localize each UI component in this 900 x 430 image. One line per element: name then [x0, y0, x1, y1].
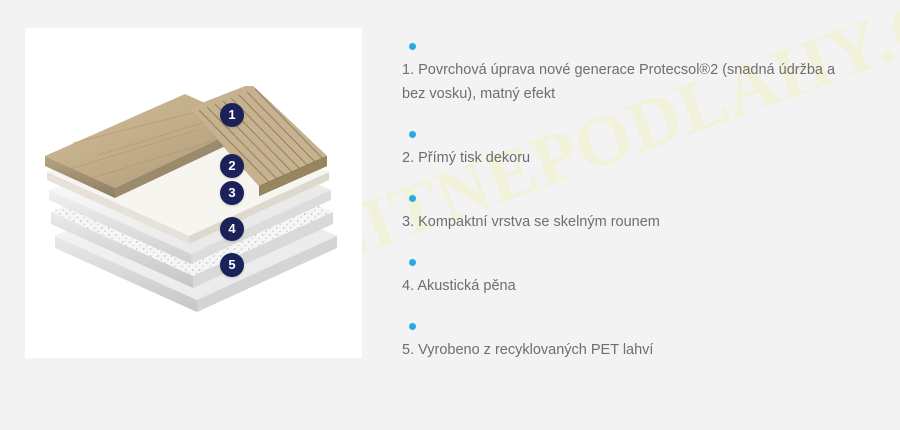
feature-text-5: 5. Vyrobeno z recyklovaných PET lahví: [402, 338, 857, 362]
product-image-panel: 1 2 3 4 5: [25, 28, 362, 358]
feature-item-4: 4. Akustická pěna: [402, 256, 872, 298]
bullet-dot-icon: [409, 43, 416, 50]
feature-text-1: 1. Povrchová úprava nové generace Protec…: [402, 58, 857, 106]
layer-badge-2[interactable]: 2: [220, 154, 244, 178]
feature-bullet-row-5: [402, 320, 872, 334]
product-layer-detail-page: KVALITNEPODLAHY.CZ: [0, 0, 900, 430]
feature-text-3: 3. Kompaktní vrstva se skelným rounem: [402, 210, 857, 234]
feature-item-3: 3. Kompaktní vrstva se skelným rounem: [402, 192, 872, 234]
layer-badge-4[interactable]: 4: [220, 217, 244, 241]
feature-list: 1. Povrchová úprava nové generace Protec…: [402, 40, 872, 362]
feature-bullet-row-2: [402, 128, 872, 142]
floor-cross-section-illustration: 1 2 3 4 5: [25, 28, 362, 358]
feature-text-2: 2. Přímý tisk dekoru: [402, 146, 857, 170]
feature-bullet-row-4: [402, 256, 872, 270]
feature-item-5: 5. Vyrobeno z recyklovaných PET lahví: [402, 320, 872, 362]
bullet-dot-icon: [409, 323, 416, 330]
bullet-dot-icon: [409, 131, 416, 138]
layer-badge-5[interactable]: 5: [220, 253, 244, 277]
bullet-dot-icon: [409, 195, 416, 202]
feature-item-1: 1. Povrchová úprava nové generace Protec…: [402, 40, 872, 106]
floor-layers-diagram: [37, 86, 347, 316]
feature-bullet-row-1: [402, 40, 872, 54]
feature-item-2: 2. Přímý tisk dekoru: [402, 128, 872, 170]
feature-text-4: 4. Akustická pěna: [402, 274, 857, 298]
layer-badge-1[interactable]: 1: [220, 103, 244, 127]
feature-bullet-row-3: [402, 192, 872, 206]
bullet-dot-icon: [409, 259, 416, 266]
layer-badge-3[interactable]: 3: [220, 181, 244, 205]
